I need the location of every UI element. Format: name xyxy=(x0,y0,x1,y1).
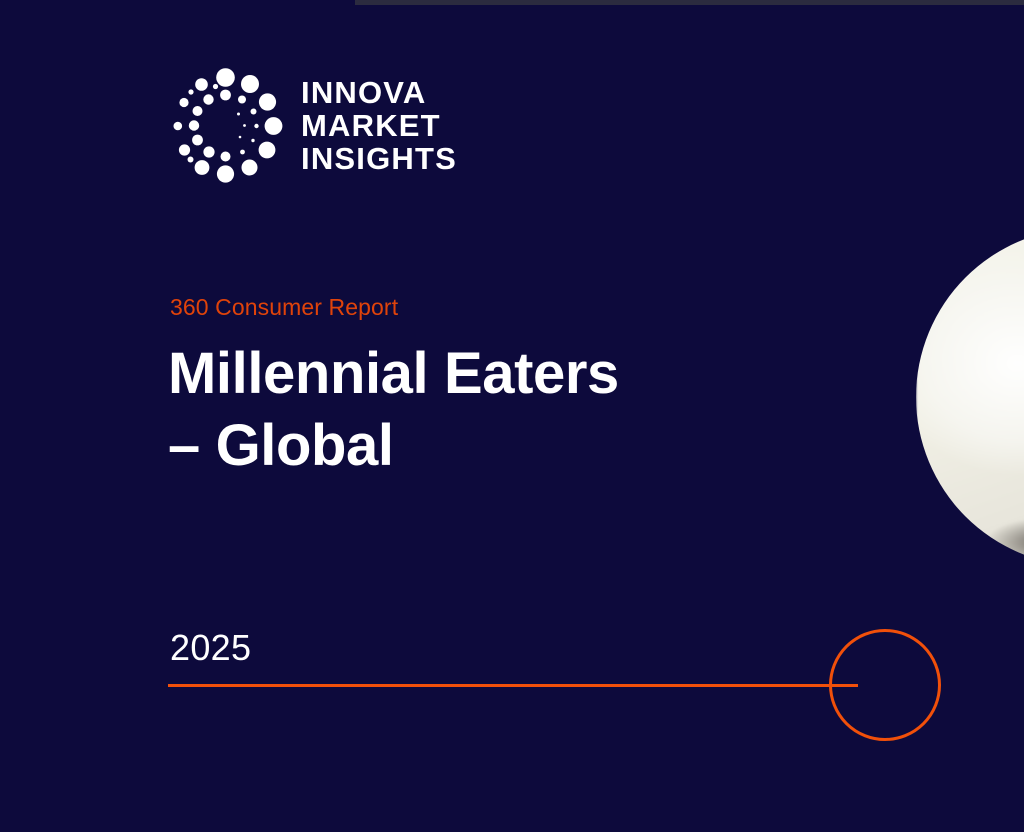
innova-dot-circle-logo-icon xyxy=(168,68,283,183)
logo-line-innova: INNOVA xyxy=(301,76,457,109)
innova-market-insights-logo: INNOVA MARKET INSIGHTS xyxy=(168,68,457,183)
top-strip xyxy=(355,0,1024,5)
report-kicker: 360 Consumer Report xyxy=(170,296,398,319)
cover-photo-image xyxy=(916,228,1024,566)
cover-photo-circle xyxy=(916,228,1024,566)
page-title-line-2: – Global xyxy=(168,410,868,482)
page-title-line-1: Millennial Eaters xyxy=(168,338,868,410)
report-year: 2025 xyxy=(170,630,251,666)
logo-wordmark: INNOVA MARKET INSIGHTS xyxy=(301,76,457,175)
orange-horizontal-rule xyxy=(168,684,858,687)
page-title: Millennial Eaters – Global xyxy=(168,338,868,482)
orange-outline-circle xyxy=(829,629,941,741)
report-cover-page: INNOVA MARKET INSIGHTS 360 Consumer Repo… xyxy=(0,0,1024,832)
logo-line-market: MARKET xyxy=(301,109,457,142)
logo-line-insights: INSIGHTS xyxy=(301,142,457,175)
